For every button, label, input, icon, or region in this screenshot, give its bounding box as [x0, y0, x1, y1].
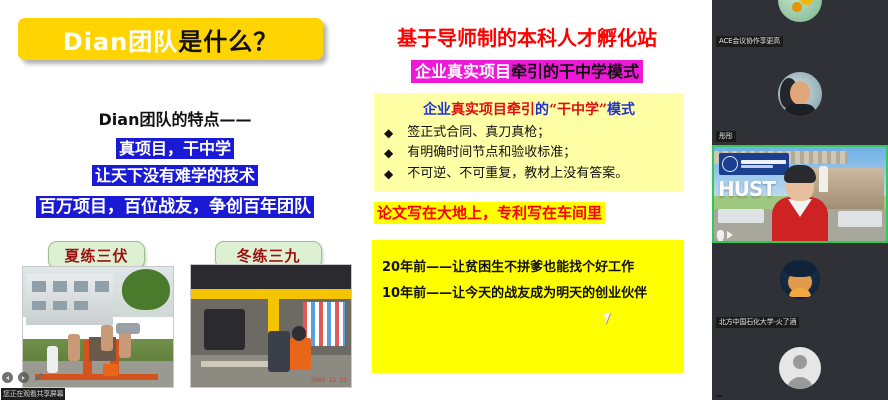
heading-part-4: “干中学”: [549, 102, 607, 118]
photo-timestamp: 2007 12 22: [311, 377, 347, 384]
diamond-bullet-icon: ◆: [384, 143, 393, 163]
photo-window: [74, 281, 88, 292]
avatar-art: [792, 2, 802, 12]
model-bullet-list: ◆签正式合同、真刀真枪； ◆有明确时间节点和验收标准； ◆不可逆、不可重复，教材…: [374, 123, 684, 184]
subtitle-part-white: 企业真实项目: [415, 62, 511, 81]
photo-person-vest: [290, 338, 311, 370]
photo-rig-base: [35, 374, 158, 380]
history-line-2: 10年前——让今天的战友成为明天的创业伙伴: [382, 282, 647, 301]
slide-headline: 基于导师制的本科人才孵化站: [352, 22, 702, 51]
slide-title-banner: Dian团队是什么？: [18, 18, 323, 60]
highlight-text-3: 百万项目，百位战友，争创百年团队: [36, 196, 314, 218]
participant-rail[interactable]: ACE会议协作享更高 彤彤: [712, 0, 888, 400]
slide-title-part-white: Dian团队: [63, 28, 178, 56]
chevron-right-icon: [22, 376, 25, 380]
avatar: [780, 259, 820, 299]
previous-slide-button[interactable]: [2, 372, 13, 383]
photo-caption-summer: 夏练三伏: [48, 241, 145, 269]
participant-name-2: 彤彤: [716, 131, 736, 142]
avatar-art: [789, 288, 811, 297]
photo-tree: [122, 269, 170, 310]
photo-person: [119, 332, 131, 358]
chevron-left-icon: [6, 376, 9, 380]
highlight-text-2: 让天下没有难学的技术: [92, 165, 258, 186]
university-logo: [719, 153, 789, 175]
highlight-text-1: 真项目，干中学: [116, 138, 234, 159]
photo-window: [95, 281, 109, 292]
photo-window: [32, 301, 46, 311]
slide-title-part-black: 是什么？: [178, 28, 278, 56]
participant-tile-3-active-speaker[interactable]: HUST: [712, 145, 888, 243]
shared-slide: Dian团队是什么？ Dian团队的特点—— 真项目，干中学 让天下没有难学的技…: [0, 0, 712, 400]
play-arrow-icon[interactable]: [727, 231, 733, 239]
participant-name-4: 北方中国石化大学-火了酒: [716, 317, 799, 328]
diamond-bullet-icon: ◆: [384, 164, 393, 184]
photo-caption-winter-label: 冬练三九: [236, 245, 300, 266]
slide-slogan: 论文写在大地上，专利写在车间里: [374, 202, 605, 223]
feature-heading: Dian团队的特点——: [0, 106, 350, 130]
slide-slogan-text: 论文写在大地上，专利写在车间里: [374, 202, 605, 224]
diamond-bullet-icon: ◆: [384, 123, 393, 143]
bullet-text-3: 不可逆、不可重复，教材上没有答案。: [407, 164, 628, 184]
annotate-pen-icon[interactable]: [34, 373, 43, 382]
participant-name-5: [716, 395, 722, 397]
highlight-line-2: 让天下没有难学的技术: [0, 162, 350, 186]
photo-window: [53, 281, 67, 292]
photo-toolbox: [103, 364, 118, 376]
avatar: [778, 0, 822, 22]
model-box: 企业真实项目牵引的“干中学”模式 ◆签正式合同、真刀真枪； ◆有明确时间节点和验…: [374, 93, 684, 191]
avatar-default: [779, 347, 821, 389]
bullet-text-1: 签正式合同、真刀真枪；: [407, 123, 550, 143]
photo-winter-training: 2007 12 22: [190, 264, 352, 388]
photo-window: [32, 281, 46, 292]
share-status-label: 您正在观看共享屏幕: [1, 388, 65, 400]
participant-tile-2[interactable]: 彤彤: [712, 50, 888, 145]
avatar-art: [784, 261, 816, 277]
photo-window: [53, 301, 67, 311]
avatar-art: [800, 0, 813, 5]
photo-summer-training: [22, 266, 174, 388]
speaker-hair: [784, 165, 816, 183]
model-box-heading: 企业真实项目牵引的“干中学”模式: [374, 93, 684, 123]
history-line-1: 20年前——让贫困生不拼爹也能找个好工作: [382, 256, 634, 275]
avatar-art: [784, 104, 816, 116]
history-box: 20年前——让贫困生不拼爹也能找个好工作 10年前——让今天的战友成为明天的创业…: [372, 240, 684, 373]
share-toolbar[interactable]: [2, 372, 43, 383]
wordmark-line: [741, 165, 773, 168]
video-bench: [718, 209, 764, 223]
avatar-art: [790, 81, 810, 105]
video-statue: [819, 166, 828, 192]
slide-title: Dian团队是什么？: [63, 22, 278, 57]
list-item: ◆有明确时间节点和验收标准；: [384, 143, 684, 163]
university-wordmark: [741, 160, 786, 168]
slide-subtitle: 企业真实项目牵引的干中学模式: [352, 58, 702, 82]
participant-tile-5[interactable]: [712, 331, 888, 400]
photo-person-head: [292, 326, 306, 341]
avatar: [778, 72, 822, 116]
heading-part-3: 的: [535, 102, 549, 118]
video-bench: [838, 211, 882, 227]
photo-person: [101, 325, 113, 351]
list-item: ◆不可逆、不可重复，教材上没有答案。: [384, 164, 684, 184]
university-crest-icon: [722, 156, 738, 172]
participant-tile-4[interactable]: 北方中国石化大学-火了酒: [712, 243, 888, 331]
bullet-text-2: 有明确时间节点和验收标准；: [407, 143, 576, 163]
photo-window: [74, 301, 88, 311]
video-overlay-text: HUST: [718, 177, 775, 201]
heading-part-5: 模式: [607, 102, 635, 118]
photo-person: [47, 346, 58, 372]
heading-part-1: 企业: [423, 102, 451, 118]
highlight-line-1: 真项目，干中学: [0, 135, 350, 159]
list-item: ◆签正式合同、真刀真枪；: [384, 123, 684, 143]
highlight-line-3: 百万项目，百位战友，争创百年团队: [0, 192, 350, 217]
participant-name-1: ACE会议协作享更高: [716, 36, 783, 47]
photo-bench: [201, 361, 268, 367]
subtitle-part-black: 牵引的干中学模式: [511, 62, 639, 81]
tile-controls[interactable]: [717, 230, 733, 239]
photo-person: [68, 334, 80, 360]
heading-part-2: 真实项目牵引: [451, 102, 535, 118]
wordmark-line: [741, 160, 786, 164]
photo-caption-summer-label: 夏练三伏: [64, 245, 128, 266]
next-slide-button[interactable]: [18, 372, 29, 383]
slide-subtitle-inner: 企业真实项目牵引的干中学模式: [411, 60, 643, 83]
participant-tile-1[interactable]: ACE会议协作享更高: [712, 0, 888, 50]
microphone-icon[interactable]: [717, 230, 724, 239]
screen: Dian团队是什么？ Dian团队的特点—— 真项目，干中学 让天下没有难学的技…: [0, 0, 888, 400]
photo-person: [268, 331, 290, 372]
photo-machine: [204, 309, 246, 350]
photo-person: [116, 323, 140, 334]
